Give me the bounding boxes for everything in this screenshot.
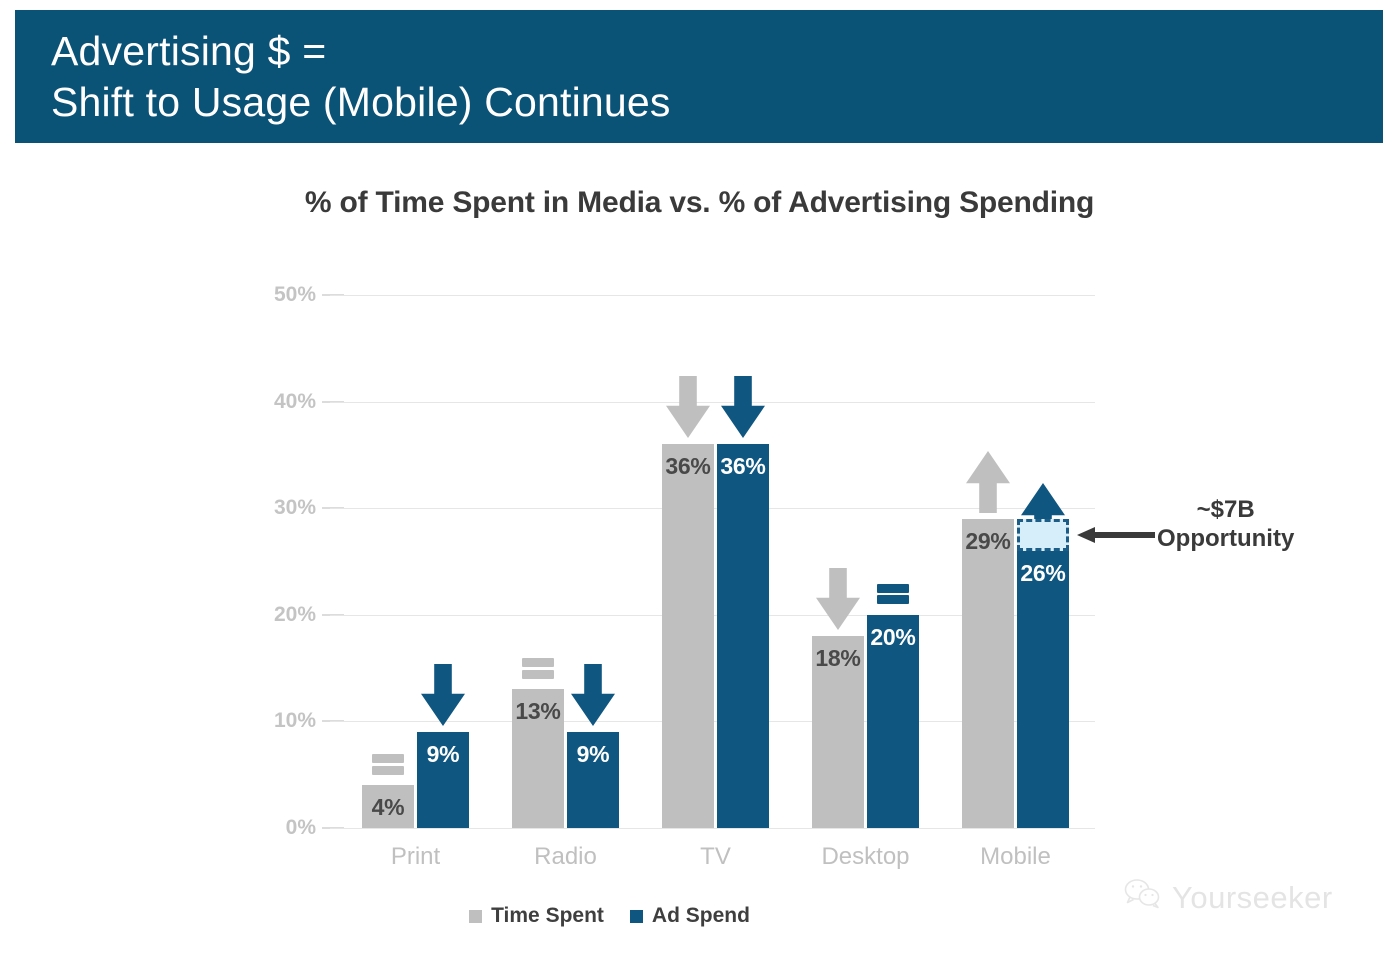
down-arrow-icon [666,376,710,438]
equals-bar [522,658,553,667]
down-arrow-icon [816,568,860,630]
bar-print-time-spent: 4% [362,785,414,828]
bar-desktop-time-spent: 18% [812,636,864,828]
bar-mobile-time-spent: 29% [962,519,1014,828]
bar-radio-ad-spend: 9% [567,732,619,828]
bar-desktop-ad-spend: 20% [867,615,919,828]
watermark-text: Yourseeker [1172,880,1333,916]
opportunity-label: ~$7B Opportunity [1157,495,1294,554]
bar-value-label: 36% [717,453,769,480]
down-arrow-icon [721,376,765,438]
bar-tv-time-spent: 36% [662,444,714,828]
legend-item[interactable]: Time Spent [469,904,604,928]
bar-radio-time-spent: 13% [512,689,564,828]
equals-bar [372,754,403,763]
bar-value-label: 29% [962,528,1014,555]
bar-value-label: 20% [867,624,919,651]
y-axis-tick-label: 40% [252,390,316,414]
bar-print-ad-spend: 9% [417,732,469,828]
equals-marker-icon [517,653,559,683]
bar-value-label: 13% [512,698,564,725]
y-axis-tick-labels: 0%10%20%30%40%50% [248,295,316,828]
legend-item[interactable]: Ad Spend [630,904,750,928]
y-axis-tick-label: 50% [252,283,316,307]
equals-marker-icon [872,579,914,609]
plot-area: 4%9%13%9%36%36%18%20%29%26%~$7B Opportun… [330,295,1095,828]
legend-swatch [469,910,482,923]
legend-swatch [630,910,643,923]
bar-value-label: 9% [417,741,469,768]
chart-legend: Time SpentAd Spend [0,904,1309,928]
bar-value-label: 18% [812,645,864,672]
chart-title: % of Time Spent in Media vs. % of Advert… [0,186,1399,220]
y-axis-tick-label: 0% [252,816,316,840]
x-axis-label-mobile: Mobile [926,843,1106,871]
equals-bar [877,595,908,604]
equals-bar [877,584,908,593]
down-arrow-icon [571,664,615,726]
bar-value-label: 9% [567,741,619,768]
watermark: Yourseeker [1124,878,1333,917]
y-axis-tick-label: 30% [252,496,316,520]
header-band: Advertising $ = Shift to Usage (Mobile) … [15,10,1383,143]
gridline [330,402,1095,403]
opportunity-pointer-arrow-icon [1077,525,1155,550]
bar-value-label: 26% [1017,560,1069,587]
equals-marker-icon [367,749,409,779]
bar-mobile-ad-spend: 26% [1017,551,1069,828]
gridline [330,295,1095,296]
opportunity-box [1017,519,1069,551]
y-axis-tick-label: 20% [252,603,316,627]
equals-bar [522,670,553,679]
page-title: Advertising $ = Shift to Usage (Mobile) … [15,26,671,126]
bar-value-label: 36% [662,453,714,480]
bar-tv-ad-spend: 36% [717,444,769,828]
bar-value-label: 4% [362,794,414,821]
equals-bar [372,766,403,775]
legend-label: Ad Spend [652,904,750,928]
gridline [330,828,1095,829]
y-axis-tick-label: 10% [252,709,316,733]
wechat-icon [1124,878,1162,917]
up-arrow-icon [966,451,1010,513]
legend-label: Time Spent [491,904,604,928]
down-arrow-icon [421,664,465,726]
chart-container: % of Time Spent in Media vs. % of Advert… [0,143,1399,960]
